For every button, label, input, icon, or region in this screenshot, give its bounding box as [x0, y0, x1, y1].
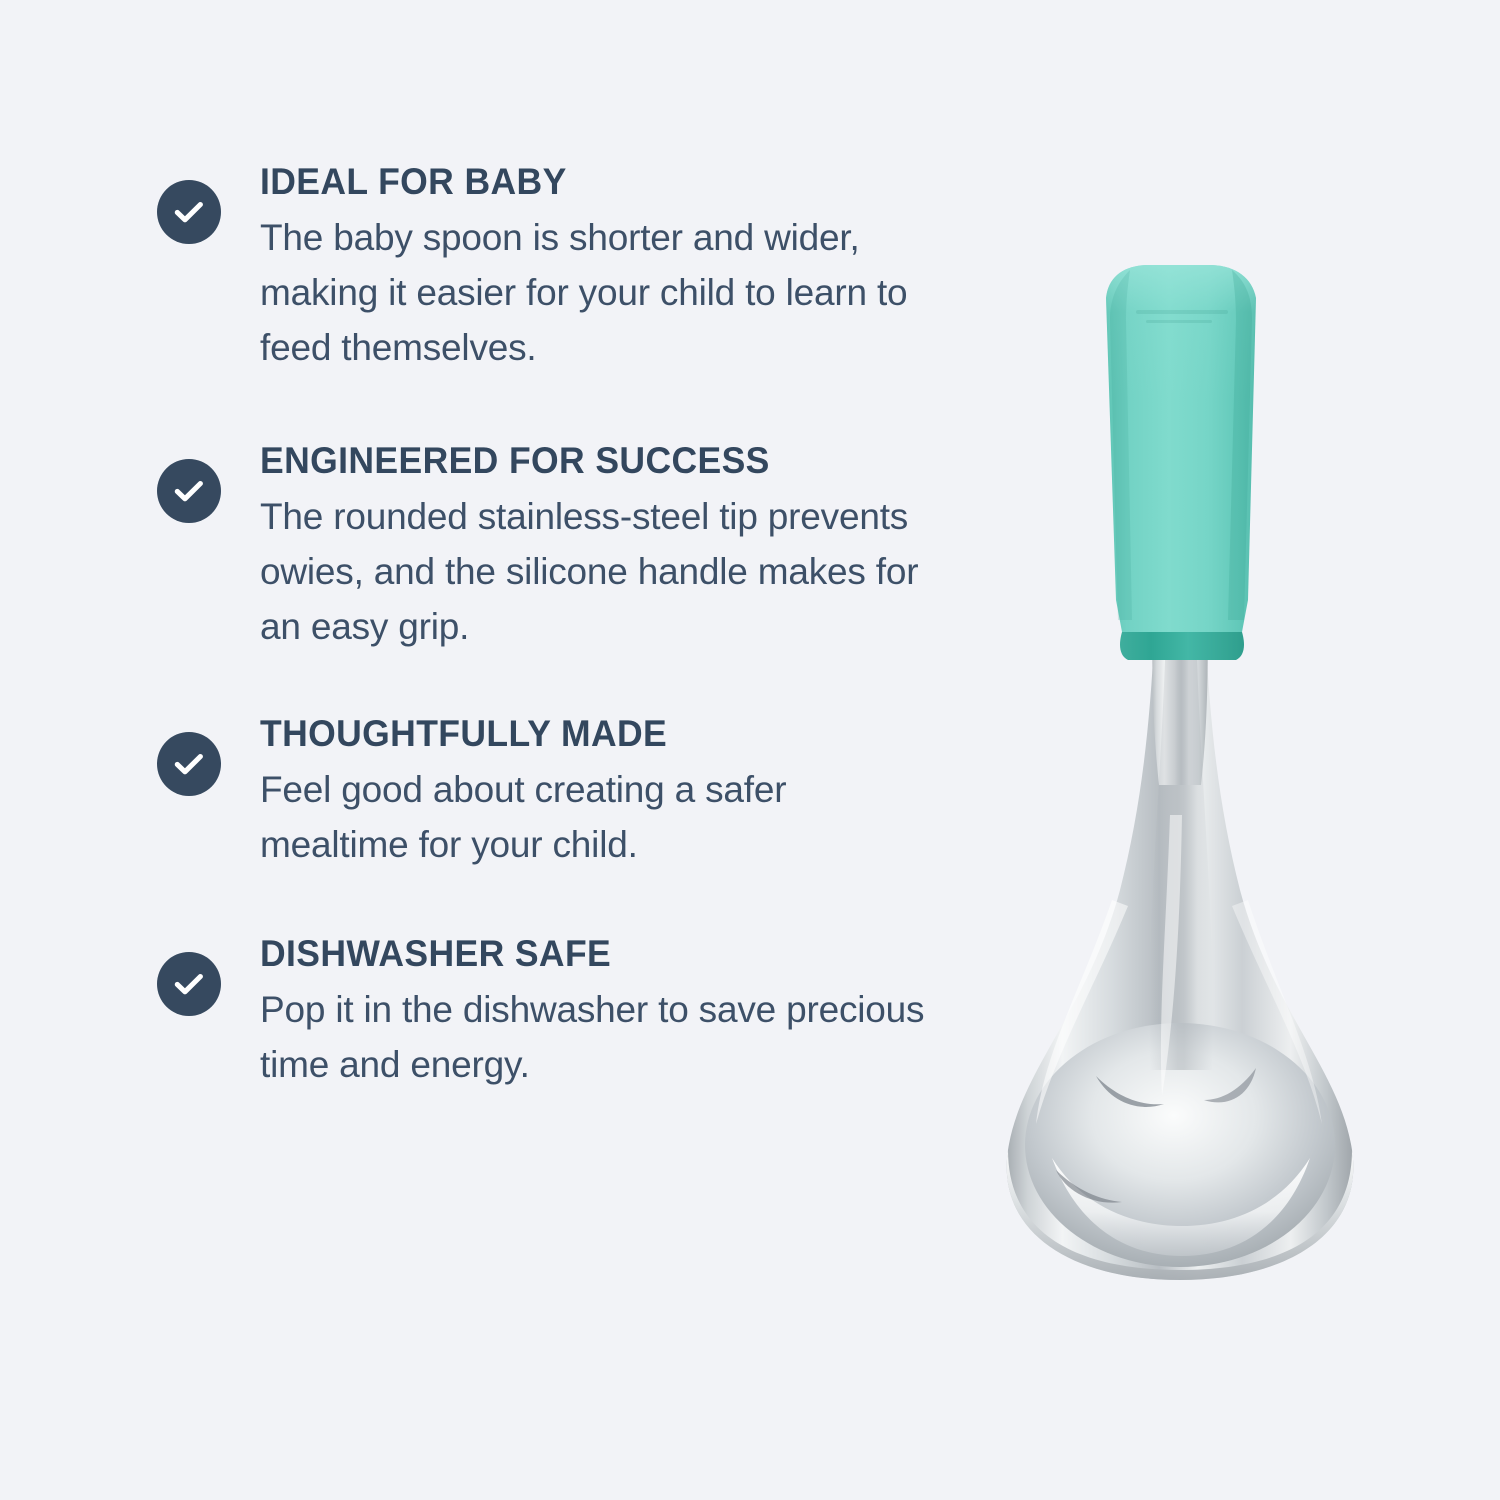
feature-body: Pop it in the dishwasher to save preciou… — [260, 982, 940, 1092]
feature-item: THOUGHTFULLY MADE Feel good about creati… — [157, 712, 947, 872]
feature-body: The baby spoon is shorter and wider, mak… — [260, 210, 940, 375]
baby-spoon-photo — [960, 240, 1400, 1300]
feature-item: IDEAL FOR BABY The baby spoon is shorter… — [157, 160, 947, 375]
check-circle-icon — [157, 180, 221, 244]
spoon-silicone-handle — [1106, 265, 1256, 660]
spoon-metal — [1007, 592, 1354, 1280]
check-circle-icon — [157, 732, 221, 796]
feature-item: DISHWASHER SAFE Pop it in the dishwasher… — [157, 932, 947, 1092]
feature-list: IDEAL FOR BABY The baby spoon is shorter… — [157, 160, 947, 1092]
feature-title: DISHWASHER SAFE — [260, 932, 920, 976]
check-circle-icon — [157, 459, 221, 523]
feature-title: ENGINEERED FOR SUCCESS — [260, 439, 920, 483]
feature-item: ENGINEERED FOR SUCCESS The rounded stain… — [157, 439, 947, 654]
feature-title: IDEAL FOR BABY — [260, 160, 920, 204]
check-circle-icon — [157, 952, 221, 1016]
feature-body: Feel good about creating a safer mealtim… — [260, 762, 940, 872]
infographic-canvas: IDEAL FOR BABY The baby spoon is shorter… — [0, 0, 1500, 1500]
feature-body: The rounded stainless-steel tip prevents… — [260, 489, 940, 654]
feature-title: THOUGHTFULLY MADE — [260, 712, 920, 756]
